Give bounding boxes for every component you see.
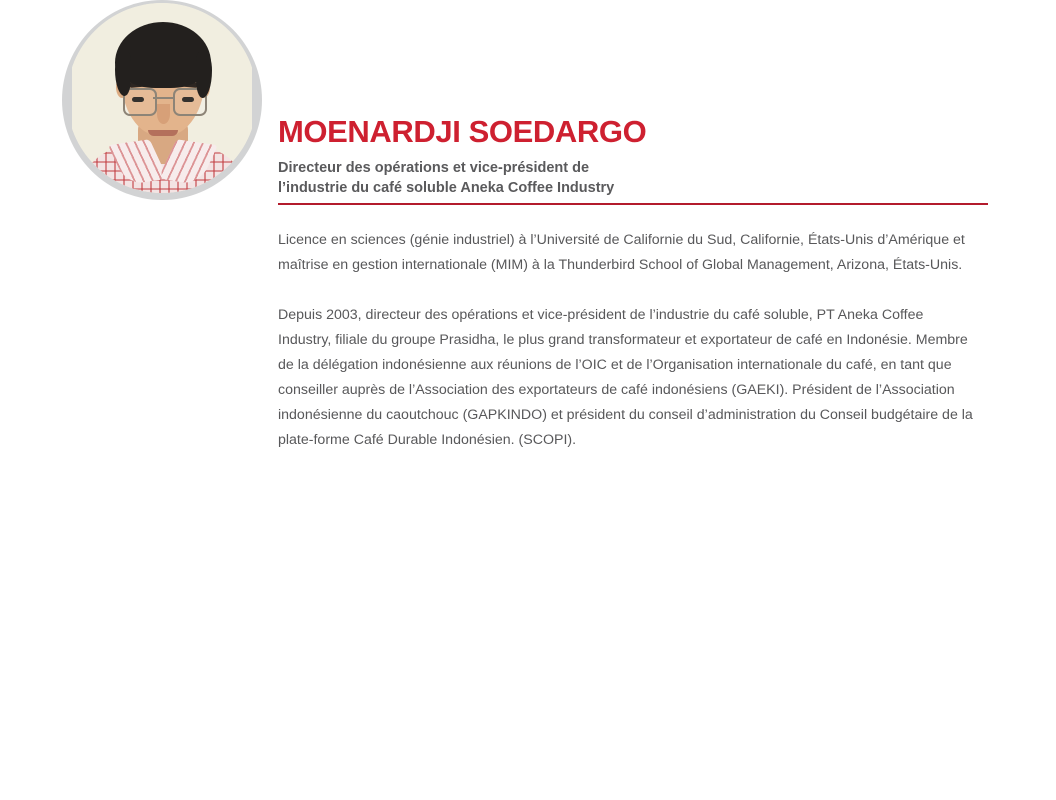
mouth-shape <box>148 130 178 136</box>
portrait-illustration <box>72 0 252 212</box>
glasses-bridge <box>153 97 173 99</box>
biography-paragraph: Depuis 2003, directeur des opérations et… <box>278 303 978 453</box>
portrait-photo <box>62 0 262 212</box>
hair-side-right-shape <box>196 52 212 98</box>
biography-text: Licence en sciences (génie industriel) à… <box>278 228 978 453</box>
hair-side-left-shape <box>115 52 131 96</box>
biography-paragraph: Licence en sciences (génie industriel) à… <box>278 228 978 278</box>
divider <box>278 203 988 205</box>
portrait-image <box>72 0 252 212</box>
nose-shape <box>157 104 170 124</box>
bio-page: MOENARDJI SOEDARGO Directeur des opérati… <box>0 0 1056 800</box>
job-title-line-2: l’industrie du café soluble Aneka Coffee… <box>278 178 614 198</box>
job-title: Directeur des opérations et vice-préside… <box>278 158 614 198</box>
page-title: MOENARDJI SOEDARGO <box>278 115 646 149</box>
job-title-line-1: Directeur des opérations et vice-préside… <box>278 158 614 178</box>
